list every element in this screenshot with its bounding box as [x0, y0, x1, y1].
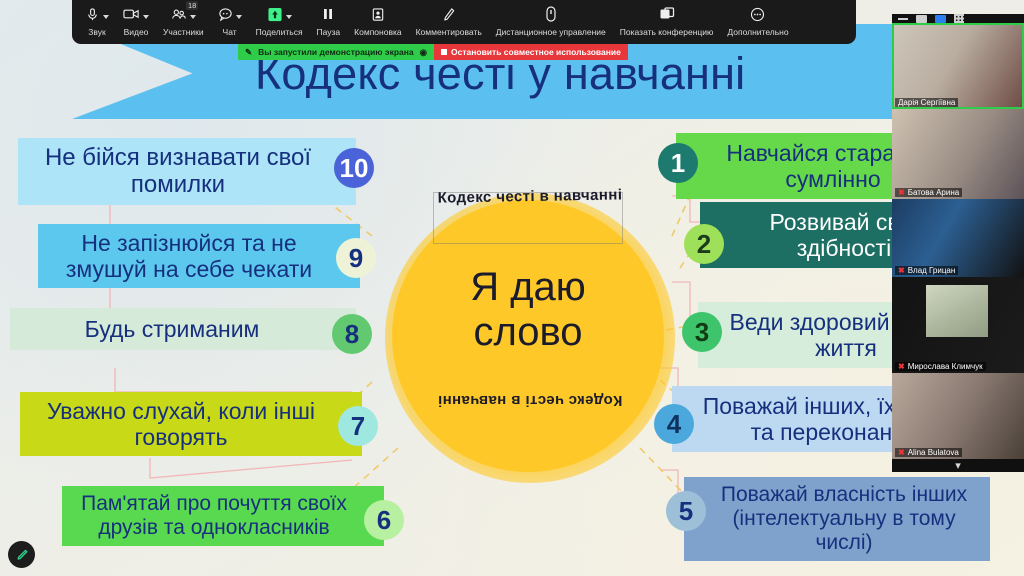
- participants-video-panel: Дарія Сергіївна✖Батова Арина✖Влад Грицан…: [892, 14, 1024, 466]
- principle-card-9: Не запізнюйся та не змушуй на себе чекат…: [38, 224, 360, 288]
- chevron-down-icon[interactable]: [103, 15, 109, 19]
- hub-label-line-1: Я даю: [392, 265, 664, 310]
- card-text: Не бійся визнавати свої помилки: [18, 138, 356, 205]
- participant-name: Влад Грицан: [908, 266, 956, 275]
- participant-name: Alina Bulatova: [908, 448, 959, 457]
- card-text: Будь стриманим: [10, 308, 356, 350]
- minimize-icon[interactable]: [898, 18, 908, 20]
- toolbar-item-label: Дистанционное управление: [496, 28, 606, 37]
- video-panel-controls: [892, 14, 1024, 23]
- card-text: Поважай власність інших (інтелектуальну …: [684, 477, 990, 561]
- pencil-glyph: [15, 548, 29, 562]
- toolbar-camera-button[interactable]: Видео: [116, 0, 156, 44]
- annotate-pen-icon: [442, 7, 456, 27]
- toolbar-item-label: Пауза: [317, 28, 341, 37]
- toolbar-item-label: Дополнительно: [727, 28, 788, 37]
- principle-card-8: Будь стриманим8: [10, 308, 356, 350]
- principle-card-6: Пам'ятай про почуття своїх друзів та одн…: [62, 486, 384, 546]
- card-text: Пам'ятай про почуття своїх друзів та одн…: [62, 486, 384, 546]
- principle-card-5: Поважай власність інших (інтелектуальну …: [684, 477, 990, 561]
- share-status: ✎ Вы запустили демонстрацию экрана ◉: [238, 44, 434, 60]
- remote-control-icon: [545, 6, 557, 27]
- video-tile[interactable]: ✖Батова Арина: [892, 109, 1024, 199]
- card-text: Не запізнюйся та не змушуй на себе чекат…: [38, 224, 360, 288]
- participant-name-label: ✖Влад Грицан: [895, 266, 958, 275]
- sidebar-view-icon[interactable]: [935, 15, 946, 23]
- camera-icon: [123, 7, 140, 26]
- toolbar-participants-button[interactable]: 18Участники: [156, 0, 211, 44]
- video-tile[interactable]: ✖Влад Грицан: [892, 199, 1024, 277]
- toolbar-item-label: Комментировать: [416, 28, 482, 37]
- participant-name-label: ✖Батова Арина: [895, 188, 962, 197]
- show-meeting-icon: [659, 7, 675, 26]
- hub-main-label: Я даю слово: [392, 265, 664, 355]
- participant-name: Мирослава Климчук: [908, 362, 983, 371]
- speaker-view-icon[interactable]: [916, 15, 927, 23]
- participant-name: Батова Арина: [908, 188, 960, 197]
- stop-share-button[interactable]: Остановить совместное использование: [434, 44, 628, 60]
- chevron-down-icon[interactable]: [286, 15, 292, 19]
- toolbar-remote-control-button[interactable]: Дистанционное управление: [489, 0, 613, 44]
- card-number-badge: 5: [666, 491, 706, 531]
- card-number-badge: 8: [332, 314, 372, 354]
- share-status-text: Вы запустили демонстрацию экрана: [258, 47, 413, 57]
- chat-icon: [218, 7, 233, 27]
- toolbar-item-label: Поделиться: [256, 28, 303, 37]
- toolbar-more-ellipsis-button[interactable]: Дополнительно: [720, 0, 795, 44]
- muted-microphone-icon: ✖: [898, 188, 905, 197]
- toolbar-pause-button[interactable]: Пауза: [310, 0, 348, 44]
- stop-share-label: Остановить совместное использование: [451, 47, 621, 57]
- screen-root: Кодекс честі у навчанні: [0, 0, 1024, 576]
- layout-icon: [371, 7, 385, 27]
- pause-icon: [321, 7, 335, 26]
- muted-microphone-icon: ✖: [898, 266, 905, 275]
- toolbar-chat-button[interactable]: Чат: [211, 0, 249, 44]
- chevron-down-icon[interactable]: [190, 15, 196, 19]
- muted-microphone-icon: ✖: [898, 362, 905, 371]
- share-shield-icon: ◉: [420, 47, 427, 58]
- toolbar-item-label: Звук: [88, 28, 105, 37]
- card-number-badge: 9: [336, 238, 376, 278]
- card-number-badge: 6: [364, 500, 404, 540]
- participants-count-badge: 18: [186, 1, 198, 10]
- share-screen-icon: [267, 7, 283, 27]
- principle-card-7: Уважно слухай, коли інші говорять7: [20, 392, 362, 456]
- hub-arc-bottom-label: Кодекс честі в навчанні: [410, 392, 650, 409]
- participant-name: Дарія Сергіївна: [898, 98, 955, 107]
- participant-name-label: ✖Мирослава Климчук: [895, 362, 986, 371]
- microphone-icon: [85, 7, 100, 27]
- participant-name-label: ✖Alina Bulatova: [895, 448, 962, 457]
- gallery-view-icon[interactable]: [954, 14, 964, 23]
- chevron-down-icon[interactable]: [236, 15, 242, 19]
- toolbar-item-label: Чат: [223, 28, 237, 37]
- card-number-badge: 4: [654, 404, 694, 444]
- card-number-badge: 1: [658, 143, 698, 183]
- toolbar-show-meeting-button[interactable]: Показать конференцию: [613, 0, 721, 44]
- video-tiles: Дарія Сергіївна✖Батова Арина✖Влад Грицан…: [892, 23, 1024, 459]
- participants-icon: [171, 7, 187, 26]
- card-number-badge: 7: [338, 406, 378, 446]
- toolbar-item-label: Компоновка: [354, 28, 401, 37]
- principle-card-10: Не бійся визнавати свої помилки10: [18, 138, 356, 205]
- toolbar-share-screen-button[interactable]: Поделиться: [249, 0, 310, 44]
- toolbar-annotate-pen-button[interactable]: Комментировать: [409, 0, 489, 44]
- more-ellipsis-icon: [750, 7, 765, 27]
- card-number-badge: 2: [684, 224, 724, 264]
- toolbar-item-label: Участники: [163, 28, 204, 37]
- pencil-icon[interactable]: [8, 541, 35, 568]
- toolbar-item-label: Видео: [124, 28, 149, 37]
- video-tile[interactable]: ✖Alina Bulatova: [892, 373, 1024, 459]
- participant-thumbnail: [926, 285, 988, 337]
- toolbar-microphone-button[interactable]: Звук: [78, 0, 116, 44]
- toolbar-layout-button[interactable]: Компоновка: [347, 0, 408, 44]
- card-number-badge: 3: [682, 312, 722, 352]
- screen-share-status-bar: ✎ Вы запустили демонстрацию экрана ◉ Ост…: [238, 44, 628, 60]
- card-number-badge: 10: [334, 148, 374, 188]
- toolbar-item-label: Показать конференцию: [620, 28, 714, 37]
- share-indicator-icon: ✎: [245, 47, 252, 58]
- chevron-down-icon[interactable]: ▾: [892, 459, 1024, 472]
- chevron-down-icon[interactable]: [143, 15, 149, 19]
- card-text: Уважно слухай, коли інші говорять: [20, 392, 362, 456]
- participant-name-label: Дарія Сергіївна: [895, 98, 958, 107]
- zoom-toolbar: ЗвукВидео18УчастникиЧатПоделитьсяПаузаКо…: [72, 0, 856, 44]
- muted-microphone-icon: ✖: [898, 448, 905, 457]
- hub-label-line-2: слово: [392, 310, 664, 355]
- video-tile[interactable]: ✖Мирослава Климчук: [892, 277, 1024, 373]
- video-tile[interactable]: Дарія Сергіївна: [892, 23, 1024, 109]
- stop-square-icon: [441, 49, 447, 55]
